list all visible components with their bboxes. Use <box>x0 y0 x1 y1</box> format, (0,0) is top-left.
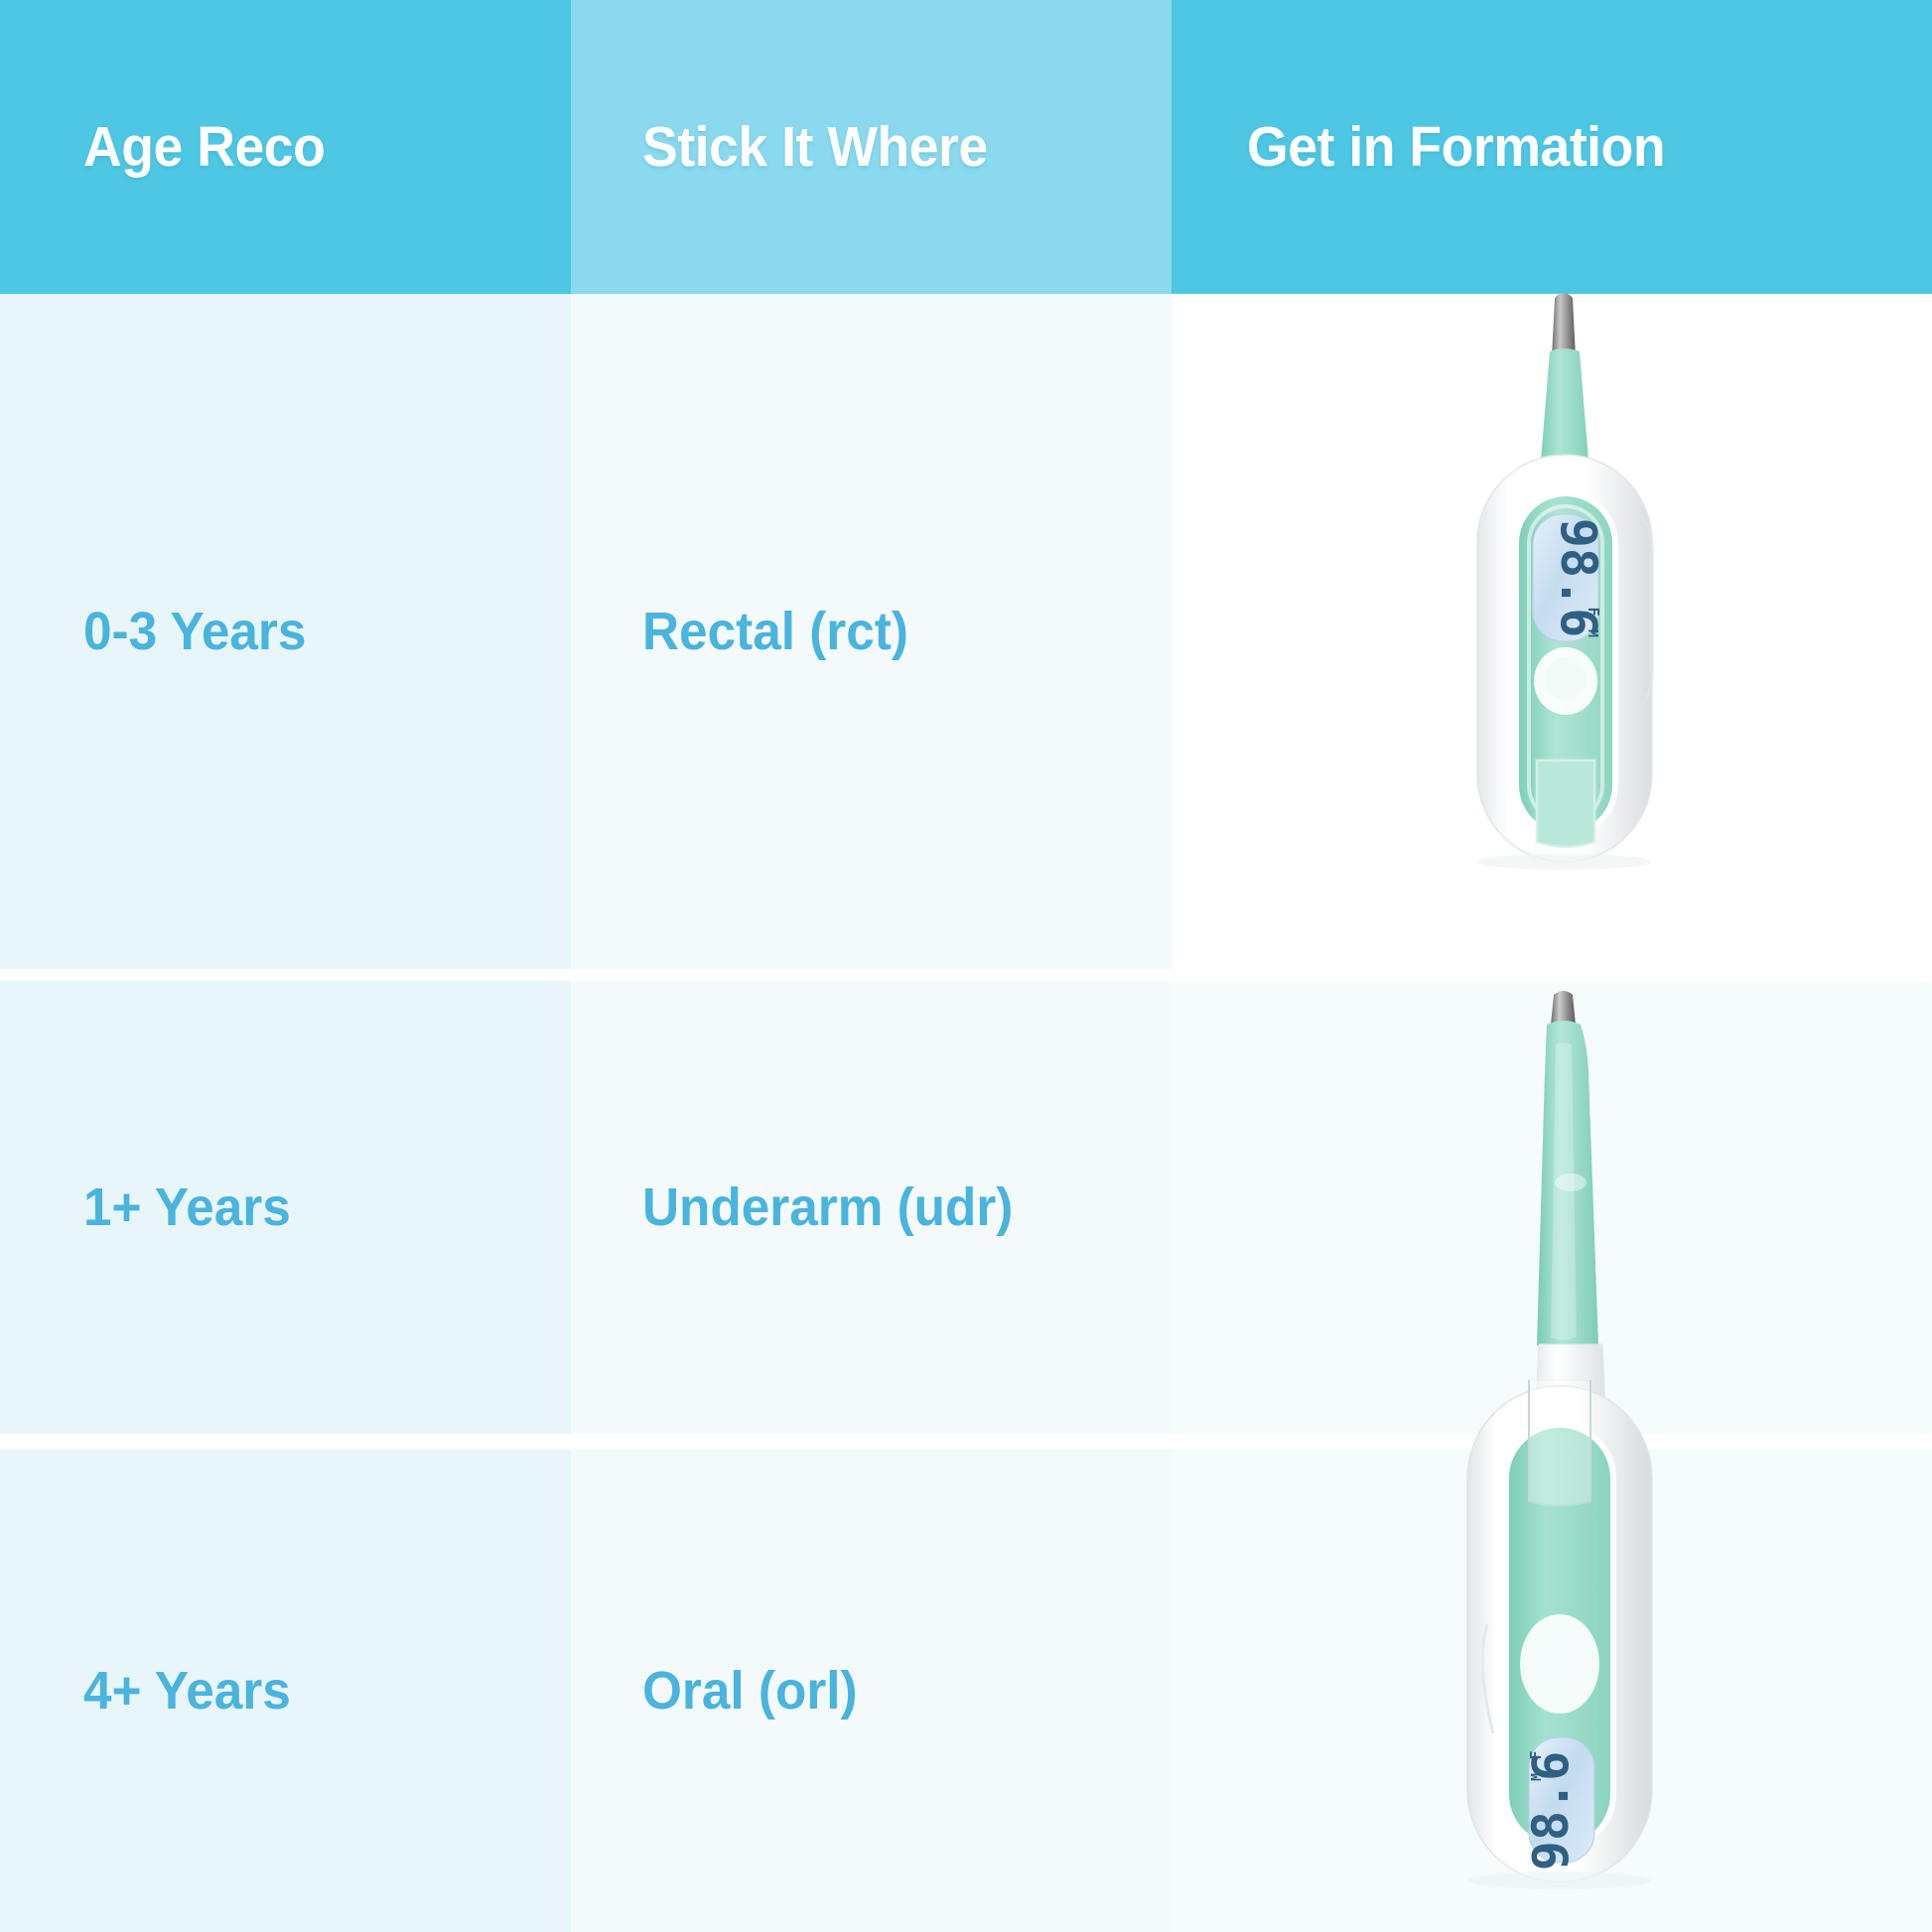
cell-site-2: Oral (orl) <box>571 1449 1172 1932</box>
thermometer-svg-extended: 98.6 F M <box>1432 989 1710 1922</box>
header-label-image: Get in Formation <box>1247 119 1665 176</box>
lcd-memory-label: M <box>1530 1773 1545 1781</box>
probe-release-nub[interactable] <box>1555 1173 1587 1191</box>
cell-age-1: 1+ Years <box>0 981 571 1434</box>
clear-clip <box>1529 1380 1590 1506</box>
lcd-memory-label: M <box>1585 629 1599 637</box>
age-label: 1+ Years <box>83 1180 291 1234</box>
cell-site-1: Underarm (udr) <box>571 981 1172 1434</box>
lcd-value: 98.6 <box>1522 1751 1580 1870</box>
cell-age-0: 0-3 Years <box>0 294 571 969</box>
thermometer-usage-table: Age Reco Stick It Where Get in Formation… <box>0 0 1932 1932</box>
row-divider-2 <box>0 1434 1201 1449</box>
lcd-reading: 98.6 <box>1550 518 1607 637</box>
probe-stem <box>1541 348 1588 466</box>
cell-site-0: Rectal (rct) <box>571 294 1172 969</box>
thermometer-image-closed: 98.6 F M <box>1438 284 1696 959</box>
header-cell-age: Age Reco <box>0 0 571 294</box>
lcd-reading: 98.6 <box>1522 1751 1580 1870</box>
header-label-age: Age Reco <box>83 119 325 176</box>
thermometer-svg-closed: 98.6 F M <box>1438 284 1696 959</box>
site-label: Rectal (rct) <box>642 605 908 658</box>
age-label: 4+ Years <box>83 1664 291 1718</box>
age-label: 0-3 Years <box>83 605 306 658</box>
row-divider-1 <box>0 969 1932 981</box>
lcd-unit-label: F <box>1585 607 1602 616</box>
header-cell-site: Stick It Where <box>571 0 1172 294</box>
thermometer-image-extended: 98.6 F M <box>1432 989 1710 1922</box>
header-cell-image: Get in Formation <box>1172 0 1932 294</box>
header-label-site: Stick It Where <box>642 119 988 176</box>
cell-age-2: 4+ Years <box>0 1449 571 1932</box>
table-body: 0-3 Years Rectal (rct) 1+ Years Underarm… <box>0 294 1932 1932</box>
site-label: Underarm (udr) <box>642 1180 1013 1234</box>
lcd-value: 98.6 <box>1550 518 1607 637</box>
lcd-unit-label: F <box>1527 1750 1545 1759</box>
table-header-row: Age Reco Stick It Where Get in Formation <box>0 0 1932 294</box>
site-label: Oral (orl) <box>642 1664 858 1718</box>
